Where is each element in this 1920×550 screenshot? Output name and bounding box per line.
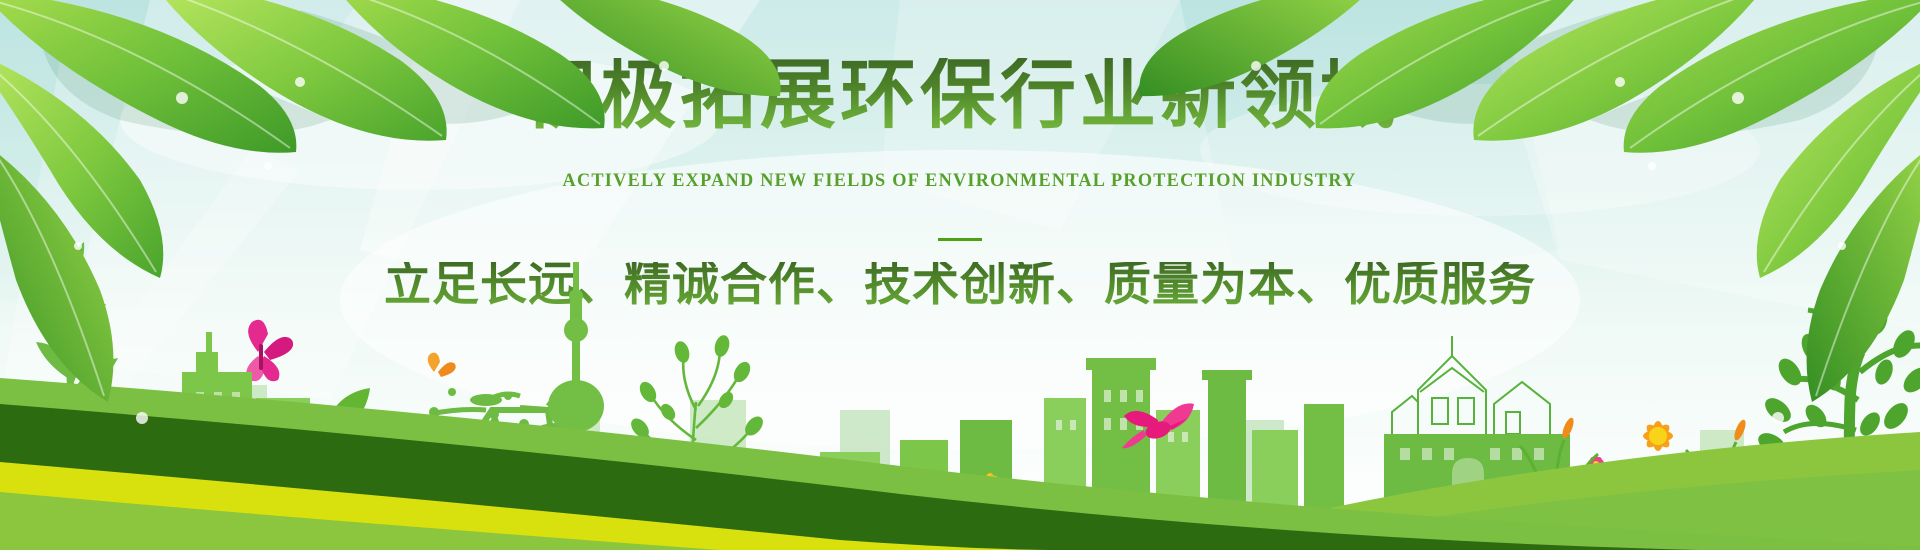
leaves-top-right: [0, 0, 1920, 550]
eco-banner: 积极拓展环保行业新领域 ACTIVELY EXPAND NEW FIELDS O…: [0, 0, 1920, 550]
